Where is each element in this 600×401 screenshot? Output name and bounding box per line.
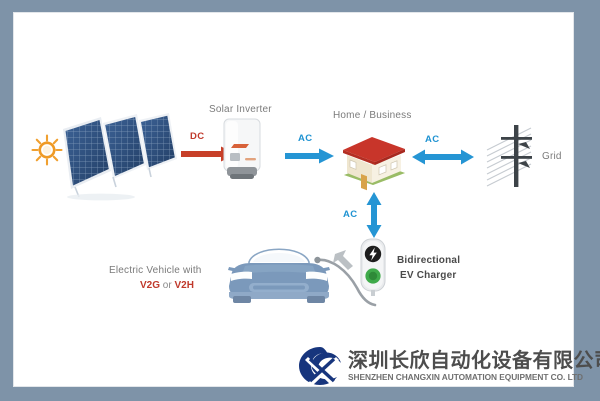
solar-panel-icon xyxy=(61,107,181,202)
flow-label-ac-inverter-home: AC xyxy=(298,133,313,144)
label-home-business: Home / Business xyxy=(333,110,412,121)
sun-icon xyxy=(29,132,65,168)
ev-charger-icon xyxy=(360,238,386,296)
screenshot-frame: DC Solar Inverter AC xyxy=(0,0,600,401)
label-solar-inverter: Solar Inverter xyxy=(209,104,272,115)
label-bidirectional: Bidirectional xyxy=(397,255,460,266)
label-ev-charger: EV Charger xyxy=(400,270,456,281)
slide-panel: DC Solar Inverter AC xyxy=(13,12,574,387)
house-icon xyxy=(339,129,409,191)
ac-arrow-home-charger xyxy=(365,192,383,243)
energy-flow-diagram: DC Solar Inverter AC xyxy=(13,12,574,387)
label-electric-vehicle: Electric Vehicle with xyxy=(109,265,202,276)
inverter-icon xyxy=(221,117,263,185)
ac-arrow-home-grid xyxy=(412,148,474,171)
ac-arrow-inverter-home xyxy=(285,147,335,170)
flow-label-dc: DC xyxy=(190,131,205,142)
flow-label-ac-home-charger: AC xyxy=(343,209,358,220)
label-v2h: V2H xyxy=(174,280,193,291)
label-grid: Grid xyxy=(542,151,562,162)
label-v2g-v2h: V2G or V2H xyxy=(140,280,194,291)
flow-label-ac-home-grid: AC xyxy=(425,134,440,145)
label-v2g: V2G xyxy=(140,280,160,291)
label-or: or xyxy=(160,280,174,291)
